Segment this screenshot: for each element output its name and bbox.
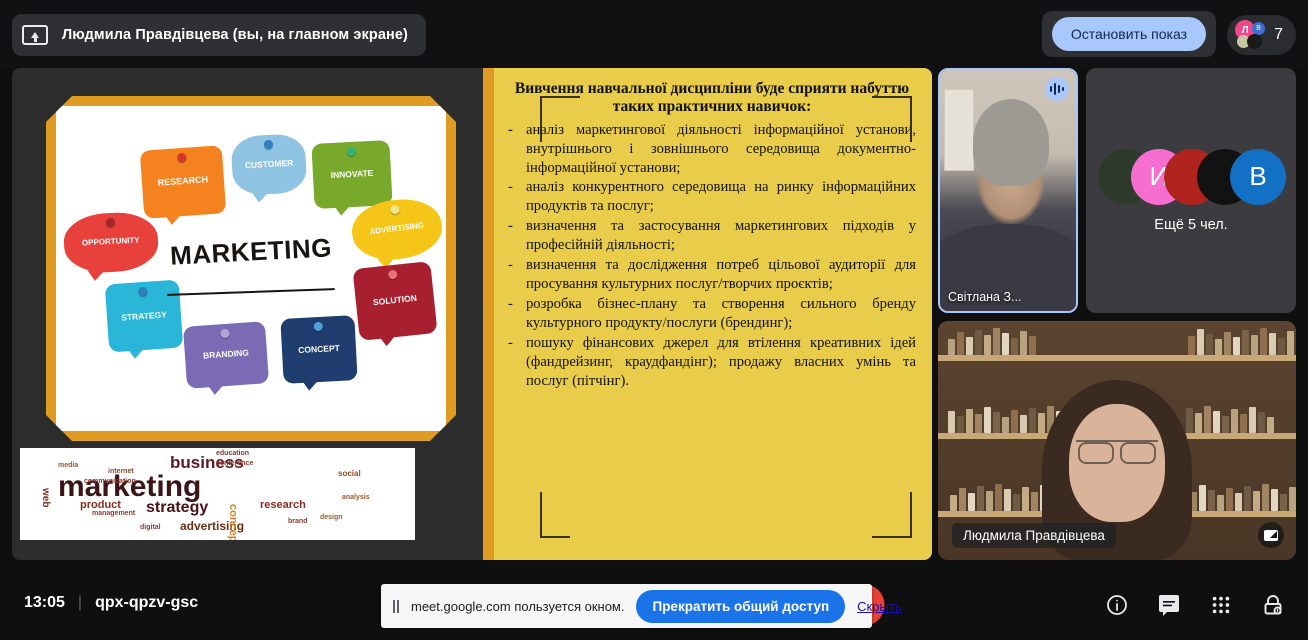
bullet-text: визначення та дослідження потреб цільово… <box>526 256 916 294</box>
book <box>995 484 1002 511</box>
word-cloud-term: communication <box>84 478 136 485</box>
book <box>1278 338 1285 355</box>
book <box>1242 330 1249 355</box>
book <box>977 486 984 511</box>
book <box>1215 339 1222 355</box>
avatar-stack: ИВ <box>1098 149 1284 205</box>
stop-presenting-button[interactable]: Остановить показ <box>1052 17 1206 51</box>
stop-sharing-button[interactable]: Прекратить общий доступ <box>636 590 845 623</box>
word-cloud-term: concept <box>227 504 238 540</box>
bracket-decoration <box>872 492 912 538</box>
speech-bubble: CONCEPT <box>281 315 358 384</box>
speech-bubble: STRATEGY <box>104 279 183 352</box>
host-controls-icon[interactable] <box>1260 592 1286 618</box>
slide-text-panel: Вивчення навчальної дисципліни буде спри… <box>483 68 932 560</box>
bubble-label: BRANDING <box>202 349 248 361</box>
word-cloud-term: management <box>92 510 135 517</box>
bullet-marker: - <box>508 295 516 314</box>
book <box>1233 337 1240 355</box>
book <box>1199 485 1206 511</box>
word-cloud-term: education <box>216 450 249 457</box>
bottom-right-icons <box>1104 592 1286 618</box>
google-meet-window: Людмила Правдівцева (вы, на главном экра… <box>0 0 1308 640</box>
screen-share-icon <box>22 25 48 45</box>
avatar-cluster: Л В <box>1235 20 1267 50</box>
book <box>957 416 964 433</box>
bullet-text: визначення та застосування маркетингових… <box>526 217 916 255</box>
book <box>1013 494 1020 511</box>
bubble-label: SOLUTION <box>373 294 418 307</box>
bracket-decoration <box>872 96 912 142</box>
bubble-label: CUSTOMER <box>244 159 293 170</box>
word-cloud-term: design <box>320 514 343 521</box>
book <box>1029 408 1036 433</box>
book <box>993 412 1000 433</box>
avatar: В <box>1230 149 1286 205</box>
sharing-indicator: Людмила Правдівцева (вы, на главном экра… <box>12 14 426 56</box>
book <box>1224 332 1231 355</box>
book <box>1258 412 1265 433</box>
word-cloud-term: analysis <box>342 494 370 501</box>
word-cloud-term: brand <box>288 518 307 525</box>
bullet-text: розробка бізнес-плану та створення сильн… <box>526 295 916 333</box>
pin-icon <box>314 322 323 331</box>
participants-count: 7 <box>1274 26 1283 44</box>
book <box>1004 489 1011 511</box>
speech-bubble: OPPORTUNITY <box>62 211 159 274</box>
book <box>1235 493 1242 511</box>
slide-bullet-list: -аналіз маркетингової діяльності інформа… <box>508 121 916 392</box>
bubble-label: RESEARCH <box>157 176 208 189</box>
book <box>1011 338 1018 355</box>
hide-bar-link[interactable]: Скрыть <box>857 599 901 614</box>
book <box>1271 489 1278 511</box>
book <box>1231 409 1238 433</box>
word-cloud-term: social <box>338 470 361 478</box>
participant-rail: Світлана З... ИВ Ещё 5 чел. <box>938 68 1296 560</box>
book <box>1269 333 1276 355</box>
pin-icon <box>390 205 400 215</box>
chat-icon[interactable] <box>1156 592 1182 618</box>
slide-bullet: -визначення та дослідження потреб цільов… <box>508 256 916 294</box>
book <box>1251 335 1258 355</box>
word-cloud-term: media <box>58 462 78 469</box>
book <box>1244 486 1251 511</box>
book <box>948 411 955 433</box>
bracket-decoration <box>540 492 570 538</box>
self-participant-name: Людмила Правдівцева <box>952 523 1116 548</box>
meeting-details-icon[interactable] <box>1104 592 1130 618</box>
top-bar: Людмила Правдівцева (вы, на главном экра… <box>0 0 1308 68</box>
word-cloud-term: research <box>260 500 306 511</box>
participants-badge[interactable]: Л В 7 <box>1227 15 1296 55</box>
bubble-label: CONCEPT <box>298 344 340 355</box>
pin-icon <box>138 286 148 296</box>
book <box>1287 331 1294 355</box>
book <box>1002 417 1009 433</box>
bullet-text: пошуку фінансових джерел для втілення кр… <box>526 334 916 391</box>
participant-tile-self[interactable]: Людмила Правдівцева <box>938 321 1296 560</box>
mic-active-icon <box>1045 77 1069 101</box>
word-cloud-term: strategy <box>146 500 208 516</box>
slide-heading: Вивчення навчальної дисципліни буде спри… <box>508 80 916 117</box>
pin-icon <box>177 153 187 163</box>
speech-bubbles-group: RESEARCHCUSTOMERINNOVATEADVERTISINGOPPOR… <box>56 106 446 431</box>
activities-icon[interactable] <box>1208 592 1234 618</box>
meeting-stage: RESEARCHCUSTOMERINNOVATEADVERTISINGOPPOR… <box>0 68 1308 570</box>
slide-bullet: -розробка бізнес-плану та створення силь… <box>508 295 916 333</box>
book <box>948 339 955 355</box>
bullet-marker: - <box>508 217 516 236</box>
book <box>1002 333 1009 355</box>
slide-bullet: -аналіз маркетингової діяльності інформа… <box>508 121 916 178</box>
book <box>1260 328 1267 355</box>
book <box>1195 413 1202 433</box>
marketing-word-cloud: marketingbusinessstrategyadvertisingprod… <box>20 448 415 540</box>
slide-image-panel: RESEARCHCUSTOMERINNOVATEADVERTISINGOPPOR… <box>12 68 483 560</box>
word-cloud-term: internet <box>108 468 134 475</box>
book <box>1197 329 1204 355</box>
speech-bubble: CUSTOMER <box>230 133 307 195</box>
bubble-label: STRATEGY <box>121 310 167 322</box>
chrome-sharing-bar: meet.google.com пользуется окном. Прекра… <box>381 584 872 628</box>
book <box>1226 488 1233 511</box>
book <box>1208 490 1215 511</box>
meeting-meta: 13:05 | qpx-qpzv-gsc <box>24 594 198 612</box>
book <box>968 493 975 511</box>
book <box>993 328 1000 355</box>
speech-bubble: INNOVATE <box>312 140 393 209</box>
pin-icon <box>388 270 398 280</box>
book <box>1020 331 1027 355</box>
book <box>1280 494 1287 511</box>
glasses <box>1076 440 1158 460</box>
sharing-message: meet.google.com пользуется окном. <box>411 599 624 614</box>
pin-icon <box>105 218 114 227</box>
marketing-image-frame: RESEARCHCUSTOMERINNOVATEADVERTISINGOPPOR… <box>46 96 456 441</box>
book <box>1262 484 1269 511</box>
book <box>1253 491 1260 511</box>
bullet-marker: - <box>508 121 516 140</box>
participant-tile-speaker[interactable]: Світлана З... <box>938 68 1078 313</box>
book <box>1011 410 1018 433</box>
book <box>1022 487 1029 511</box>
book <box>1188 336 1195 355</box>
book <box>1031 492 1038 511</box>
picture-in-picture-icon[interactable] <box>1258 522 1284 548</box>
book <box>1217 495 1224 511</box>
book <box>1204 406 1211 433</box>
book <box>1222 416 1229 433</box>
more-participants-label: Ещё 5 чел. <box>1154 217 1227 233</box>
book <box>975 330 982 355</box>
book <box>957 332 964 355</box>
book <box>1029 336 1036 355</box>
book <box>959 488 966 511</box>
book <box>986 491 993 511</box>
shared-screen[interactable]: RESEARCHCUSTOMERINNOVATEADVERTISINGOPPOR… <box>12 68 932 560</box>
more-participants-tile[interactable]: ИВ Ещё 5 чел. <box>1086 68 1296 313</box>
book <box>966 409 973 433</box>
book <box>1213 411 1220 433</box>
bullet-marker: - <box>508 178 516 197</box>
bubble-label: INNOVATE <box>331 169 374 180</box>
avatar <box>1247 34 1262 49</box>
word-cloud-term: digital <box>140 524 161 531</box>
book <box>966 337 973 355</box>
book <box>1206 334 1213 355</box>
bubble-label: ADVERTISING <box>370 222 425 237</box>
book <box>1020 415 1027 433</box>
slide-bullet: -пошуку фінансових джерел для втілення к… <box>508 334 916 391</box>
pin-icon <box>347 147 356 156</box>
video-feed <box>940 70 1076 311</box>
bubble-label: OPPORTUNITY <box>82 237 140 248</box>
book <box>984 407 991 433</box>
speech-bubble: RESEARCH <box>140 145 226 219</box>
meeting-code: qpx-qpzv-gsc <box>95 594 198 612</box>
pin-icon <box>220 328 230 338</box>
word-cloud-term: web <box>40 488 50 507</box>
stop-share-container: Остановить показ <box>1042 11 1216 57</box>
pause-icon <box>393 600 399 613</box>
book <box>1240 414 1247 433</box>
speech-bubble: BRANDING <box>183 321 269 388</box>
word-cloud-term: marketing <box>58 472 201 502</box>
book <box>984 335 991 355</box>
separator: | <box>78 594 82 612</box>
book <box>1249 407 1256 433</box>
bullet-marker: - <box>508 256 516 275</box>
bottom-bar: 13:05 | qpx-qpzv-gsc <box>0 570 1308 640</box>
book <box>950 495 957 511</box>
participant-name: Світлана З... <box>948 290 1021 304</box>
book <box>1289 487 1296 511</box>
bullet-text: аналіз маркетингової діяльності інформац… <box>526 121 916 178</box>
bullet-text: аналіз конкурентного середовища на ринку… <box>526 178 916 216</box>
sharing-title: Людмила Правдівцева (вы, на главном экра… <box>62 27 408 43</box>
current-time: 13:05 <box>24 594 65 612</box>
book <box>1267 417 1274 433</box>
word-cloud-term: conference <box>216 460 253 467</box>
speech-bubble: SOLUTION <box>353 261 438 340</box>
slide-bullet: -аналіз конкурентного середовища на ринк… <box>508 178 916 216</box>
slide-bullet: -визначення та застосування маркетингови… <box>508 217 916 255</box>
bullet-marker: - <box>508 334 516 353</box>
pin-icon <box>263 140 272 149</box>
book <box>975 414 982 433</box>
